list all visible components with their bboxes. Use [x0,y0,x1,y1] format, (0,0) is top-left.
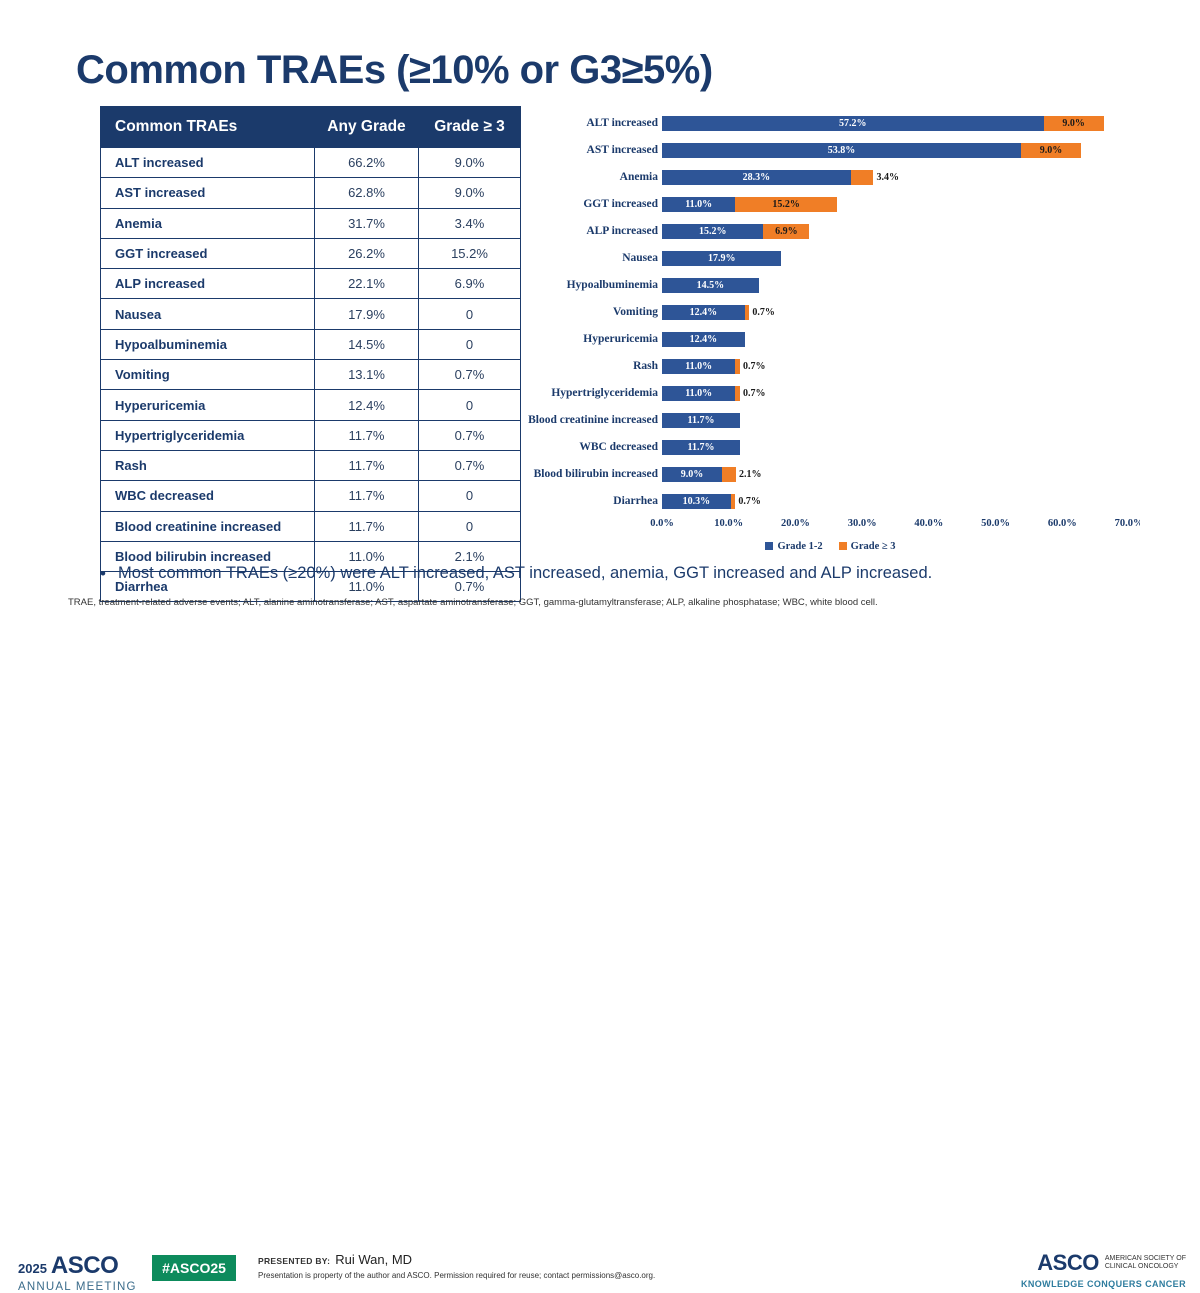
legend-item: Grade 1-2 [765,541,822,552]
cell-grade3: 0 [419,390,521,420]
bar-label-grade-3plus-outside: 3.4% [873,170,899,185]
legend-label: Grade ≥ 3 [851,541,896,552]
table-row: AST increased62.8%9.0% [101,178,521,208]
chart-bar-row: Rash11.0%0.7% [521,355,1140,377]
table-row: Hyperuricemia12.4%0 [101,390,521,420]
chart-bar-row: ALP increased15.2%6.9% [521,220,1140,242]
chart-bar-row: Diarrhea10.3%0.7% [521,490,1140,512]
asco-org-wordmark: ASCO [1037,1250,1099,1276]
chart-category-label: WBC decreased [579,436,658,458]
cell-grade3: 0.7% [419,450,521,480]
cell-any-grade: 14.5% [315,329,419,359]
chart-category-label: Hypoalbuminemia [567,274,658,296]
asco-org-subtitle: AMERICAN SOCIETY OF CLINICAL ONCOLOGY [1105,1255,1186,1272]
cell-any-grade: 62.8% [315,178,419,208]
cell-grade3: 0 [419,299,521,329]
table-row: Vomiting13.1%0.7% [101,360,521,390]
table-row: Hypoalbuminemia14.5%0 [101,329,521,359]
cell-grade3: 9.0% [419,178,521,208]
stacked-bar: 11.7% [662,440,740,455]
cell-trae-name: Hypertriglyceridemia [101,420,315,450]
bar-segment-grade-1-2: 53.8% [662,143,1021,158]
meeting-subtitle: ANNUAL MEETING [18,1281,143,1293]
stacked-bar: 15.2%6.9% [662,224,809,239]
table-row: Anemia31.7%3.4% [101,208,521,238]
bar-segment-grade-1-2: 11.7% [662,440,740,455]
cell-grade3: 0 [419,481,521,511]
bar-segment-grade-1-2: 11.7% [662,413,740,428]
x-axis-tick-label: 70.0% [1115,518,1140,529]
chart-category-label: Blood bilirubin increased [534,463,658,485]
cell-trae-name: AST increased [101,178,315,208]
asco-organization-logo: ASCO AMERICAN SOCIETY OF CLINICAL ONCOLO… [986,1250,1186,1289]
cell-any-grade: 11.7% [315,420,419,450]
cell-any-grade: 11.7% [315,511,419,541]
table-row: Hypertriglyceridemia11.7%0.7% [101,420,521,450]
x-axis-tick-label: 10.0% [714,518,743,529]
traes-table: Common TRAEs Any Grade Grade ≥ 3 ALT inc… [100,106,521,602]
cell-trae-name: WBC decreased [101,481,315,511]
cell-any-grade: 66.2% [315,148,419,178]
chart-category-label: Diarrhea [613,490,658,512]
stacked-bar: 14.5% [662,278,759,293]
slide-footer: 2025 ASCO ANNUAL MEETING #ASCO25 PRESENT… [0,622,1200,675]
stacked-bar: 28.3%3.4% [662,170,873,185]
chart-bar-row: Hyperuricemia12.4% [521,328,1140,350]
hashtag-badge: #ASCO25 [152,1255,236,1281]
cell-any-grade: 13.1% [315,360,419,390]
bar-segment-grade-1-2: 14.5% [662,278,759,293]
stacked-bar: 9.0%2.1% [662,467,736,482]
asco-wordmark: ASCO [51,1252,118,1280]
bar-label-grade-3plus-outside: 2.1% [736,467,762,482]
cell-any-grade: 12.4% [315,390,419,420]
table-row: ALT increased66.2%9.0% [101,148,521,178]
footer-divider [0,622,1200,623]
stacked-bar: 53.8%9.0% [662,143,1081,158]
bar-segment-grade-1-2: 15.2% [662,224,763,239]
presenter-name: Rui Wan, MD [335,1252,412,1267]
stacked-bar: 11.0%0.7% [662,386,740,401]
cell-trae-name: GGT increased [101,238,315,268]
presented-by-label: PRESENTED BY: [258,1256,330,1266]
cell-trae-name: Hypoalbuminemia [101,329,315,359]
cell-grade3: 0.7% [419,360,521,390]
column-header-any-grade: Any Grade [315,107,419,148]
permission-notice: Presentation is property of the author a… [258,1271,798,1280]
cell-any-grade: 26.2% [315,238,419,268]
table-header-row: Common TRAEs Any Grade Grade ≥ 3 [101,107,521,148]
chart-category-label: Hyperuricemia [583,328,658,350]
bar-label-grade-3plus-outside: 0.7% [740,386,766,401]
table-row: ALP increased22.1%6.9% [101,269,521,299]
chart-bar-row: GGT increased11.0%15.2% [521,193,1140,215]
bar-segment-grade-1-2: 11.0% [662,386,735,401]
chart-category-label: AST increased [587,139,658,161]
x-axis-tick-label: 40.0% [914,518,943,529]
bar-segment-grade-3plus: 9.0% [1021,143,1081,158]
bar-segment-grade-3plus: 9.0% [1044,116,1104,131]
chart-bar-row: Hypoalbuminemia14.5% [521,274,1140,296]
org-sub-line-2: CLINICAL ONCOLOGY [1105,1263,1179,1270]
chart-bar-row: AST increased53.8%9.0% [521,139,1140,161]
cell-trae-name: Blood creatinine increased [101,511,315,541]
bar-segment-grade-1-2: 17.9% [662,251,781,266]
legend-label: Grade 1-2 [777,541,822,552]
chart-category-label: Blood creatinine increased [528,409,658,431]
chart-category-label: Vomiting [613,301,658,323]
cell-trae-name: ALP increased [101,269,315,299]
cell-grade3: 3.4% [419,208,521,238]
bar-segment-grade-3plus: 15.2% [735,197,836,212]
cell-trae-name: Vomiting [101,360,315,390]
bar-segment-grade-1-2: 11.0% [662,359,735,374]
cell-trae-name: Hyperuricemia [101,390,315,420]
chart-x-axis: 0.0%10.0%20.0%30.0%40.0%50.0%60.0%70.0% [521,518,1140,536]
cell-trae-name: Rash [101,450,315,480]
table-row: Rash11.7%0.7% [101,450,521,480]
chart-bar-row: Blood creatinine increased11.7% [521,409,1140,431]
chart-category-label: Rash [633,355,658,377]
bar-segment-grade-1-2: 57.2% [662,116,1044,131]
bar-label-grade-3plus-outside: 0.7% [740,359,766,374]
cell-grade3: 6.9% [419,269,521,299]
bullet-text: Most common TRAEs (≥20%) were ALT increa… [118,563,932,584]
cell-any-grade: 11.7% [315,481,419,511]
bar-segment-grade-1-2: 11.0% [662,197,735,212]
bullet-marker: • [100,563,106,584]
cell-any-grade: 22.1% [315,269,419,299]
cell-any-grade: 31.7% [315,208,419,238]
chart-bar-row: ALT increased57.2%9.0% [521,112,1140,134]
cell-any-grade: 11.7% [315,450,419,480]
chart-legend: Grade 1-2Grade ≥ 3 [521,538,1140,554]
stacked-bar: 12.4% [662,332,745,347]
chart-category-label: GGT increased [583,193,658,215]
x-axis-tick-label: 30.0% [848,518,877,529]
stacked-bar: 17.9% [662,251,781,266]
x-axis-tick-label: 20.0% [781,518,810,529]
chart-bar-row: Nausea17.9% [521,247,1140,269]
table-body: ALT increased66.2%9.0%AST increased62.8%… [101,148,521,602]
bar-segment-grade-1-2: 10.3% [662,494,731,509]
chart-category-label: Hypertriglyceridemia [551,382,658,404]
x-axis-tick-label: 0.0% [650,518,674,529]
cell-grade3: 9.0% [419,148,521,178]
stacked-bar: 57.2%9.0% [662,116,1104,131]
stacked-bar: 11.7% [662,413,740,428]
key-finding-bullet: • Most common TRAEs (≥20%) were ALT incr… [100,563,1150,584]
cell-grade3: 0 [419,511,521,541]
bar-segment-grade-1-2: 12.4% [662,332,745,347]
table-row: Blood creatinine increased11.7%0 [101,511,521,541]
chart-bar-row: WBC decreased11.7% [521,436,1140,458]
bar-label-grade-3plus-outside: 0.7% [749,305,775,320]
legend-swatch-grade-1-2 [765,542,773,550]
chart-bar-row: Blood bilirubin increased9.0%2.1% [521,463,1140,485]
stacked-bar: 11.0%0.7% [662,359,740,374]
cell-grade3: 15.2% [419,238,521,268]
meeting-year: 2025 [18,1261,47,1276]
stacked-bar: 10.3%0.7% [662,494,735,509]
chart-category-label: ALT increased [586,112,658,134]
bar-label-grade-3plus-outside: 0.7% [735,494,761,509]
chart-bar-row: Anemia28.3%3.4% [521,166,1140,188]
chart-category-label: Nausea [622,247,658,269]
bar-segment-grade-1-2: 9.0% [662,467,722,482]
chart-category-label: Anemia [620,166,658,188]
cell-trae-name: Anemia [101,208,315,238]
x-axis-tick-label: 60.0% [1048,518,1077,529]
cell-grade3: 0.7% [419,420,521,450]
table-row: GGT increased26.2%15.2% [101,238,521,268]
bar-segment-grade-1-2: 28.3% [662,170,851,185]
cell-any-grade: 17.9% [315,299,419,329]
table-row: WBC decreased11.7%0 [101,481,521,511]
chart-bar-row: Hypertriglyceridemia11.0%0.7% [521,382,1140,404]
legend-swatch-grade-3plus [839,542,847,550]
bar-segment-grade-1-2: 12.4% [662,305,745,320]
asco-tagline: KNOWLEDGE CONQUERS CANCER [986,1279,1186,1289]
abbreviations-footnote: TRAE, treatment-related adverse events; … [68,596,1148,609]
bar-segment-grade-3plus: 6.9% [763,224,809,239]
cell-grade3: 0 [419,329,521,359]
bar-segment-grade-3plus [722,467,736,482]
presented-by-block: PRESENTED BY: Rui Wan, MD Presentation i… [258,1252,798,1280]
org-sub-line-1: AMERICAN SOCIETY OF [1105,1255,1186,1262]
page-title: Common TRAEs (≥10% or G3≥5%) [76,48,976,93]
x-axis-tick-label: 50.0% [981,518,1010,529]
legend-item: Grade ≥ 3 [839,541,896,552]
stacked-bar: 12.4%0.7% [662,305,749,320]
traes-bar-chart: ALT increased57.2%9.0%AST increased53.8%… [521,106,1140,556]
asco-annual-meeting-logo: 2025 ASCO ANNUAL MEETING [18,1252,143,1293]
bar-segment-grade-3plus [851,170,874,185]
chart-category-label: ALP increased [586,220,658,242]
table-row: Nausea17.9%0 [101,299,521,329]
cell-trae-name: ALT increased [101,148,315,178]
chart-bar-row: Vomiting12.4%0.7% [521,301,1140,323]
stacked-bar: 11.0%15.2% [662,197,837,212]
column-header-grade3: Grade ≥ 3 [419,107,521,148]
cell-trae-name: Nausea [101,299,315,329]
column-header-name: Common TRAEs [101,107,315,148]
